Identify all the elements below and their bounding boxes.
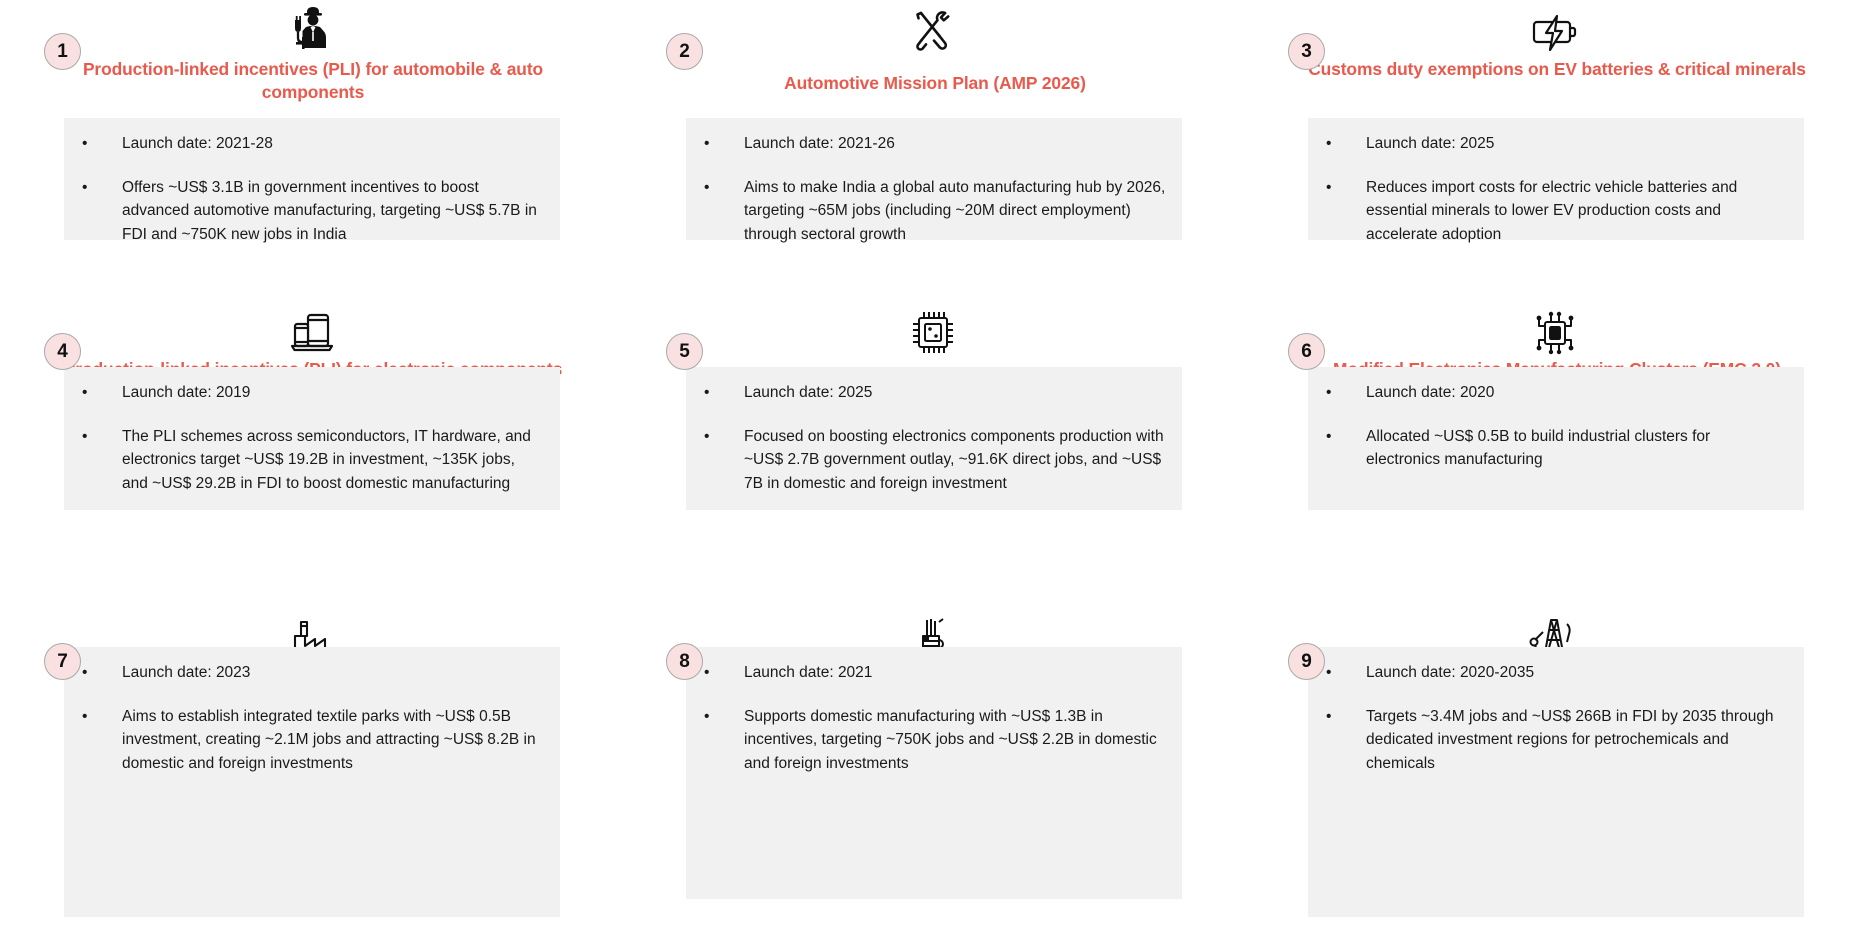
bullet-text: Launch date: 2023 [122, 661, 544, 685]
card-title: Automotive Mission Plan (AMP 2026) [680, 72, 1190, 95]
bullet-glyph: • [1318, 425, 1366, 449]
bullet-glyph: • [1318, 381, 1366, 405]
bullet-text: Launch date: 2020-2035 [1366, 661, 1788, 685]
bullet-item: • Targets ~3.4M jobs and ~US$ 266B in FD… [1318, 705, 1788, 776]
bullet-text: Targets ~3.4M jobs and ~US$ 266B in FDI … [1366, 705, 1788, 776]
card-number-badge: 3 [1288, 33, 1325, 70]
crossed-tools-icon [622, 2, 1244, 60]
bullet-text: Launch date: 2021-26 [744, 132, 1166, 156]
bullet-item: • Reduces import costs for electric vehi… [1318, 176, 1788, 247]
bullet-text: Launch date: 2025 [744, 381, 1166, 405]
bullet-item: • Supports domestic manufacturing with ~… [696, 705, 1166, 776]
bullet-text: Reduces import costs for electric vehicl… [1366, 176, 1788, 247]
bullet-text: Launch date: 2021 [744, 661, 1166, 685]
bullet-text: Offers ~US$ 3.1B in government incentive… [122, 176, 544, 247]
bullet-item: • Launch date: 2023 [74, 661, 544, 685]
battery-charging-icon [1244, 2, 1866, 60]
bullet-glyph: • [1318, 661, 1366, 685]
bullet-glyph: • [696, 176, 744, 200]
bullet-item: • The PLI schemes across semiconductors,… [74, 425, 544, 496]
bullet-text: Focused on boosting electronics componen… [744, 425, 1166, 496]
card-title: Customs duty exemptions on EV batteries … [1302, 58, 1812, 81]
card-content-box: • Launch date: 2019 • The PLI schemes ac… [64, 367, 560, 510]
bullet-text: Launch date: 2021-28 [122, 132, 544, 156]
card-content-box: • Launch date: 2023 • Aims to establish … [64, 647, 560, 917]
card-content-box: • Launch date: 2025 • Focused on boostin… [686, 367, 1182, 510]
bullet-glyph: • [696, 661, 744, 685]
scheme-card-2[interactable]: 2 Automotive Mission Pl [622, 0, 1244, 300]
bullet-glyph: • [1318, 132, 1366, 156]
scheme-card-1[interactable]: 1 [0, 0, 622, 300]
card-number-badge: 2 [666, 33, 703, 70]
bullet-glyph: • [74, 381, 122, 405]
card-content-box: • Launch date: 2020-2035 • Targets ~3.4M… [1308, 647, 1804, 917]
bullet-text: Launch date: 2019 [122, 381, 544, 405]
scheme-card-5[interactable]: 5 [622, 300, 1244, 610]
card-number-badge: 1 [44, 33, 81, 70]
bullet-glyph: • [696, 705, 744, 729]
bullet-glyph: • [1318, 176, 1366, 200]
scheme-card-6[interactable]: 6 [1244, 300, 1866, 610]
bullet-text: Aims to make India a global auto manufac… [744, 176, 1166, 247]
bullet-item: • Launch date: 2020 [1318, 381, 1788, 405]
bullet-glyph: • [74, 705, 122, 729]
bullet-item: • Focused on boosting electronics compon… [696, 425, 1166, 496]
bullet-glyph: • [74, 661, 122, 685]
bullet-item: • Aims to make India a global auto manuf… [696, 176, 1166, 247]
card-content-box: • Launch date: 2025 • Reduces import cos… [1308, 118, 1804, 240]
card-number-badge: 6 [1288, 333, 1325, 370]
card-content-box: • Launch date: 2021-28 • Offers ~US$ 3.1… [64, 118, 560, 240]
card-content-box: • Launch date: 2020 • Allocated ~US$ 0.5… [1308, 367, 1804, 510]
bullet-glyph: • [696, 132, 744, 156]
card-content-box: • Launch date: 2021-26 • Aims to make In… [686, 118, 1182, 240]
scheme-card-3[interactable]: 3 Customs duty exemptions on EV batterie… [1244, 0, 1866, 300]
bullet-text: The PLI schemes across semiconductors, I… [122, 425, 544, 496]
bullet-text: Aims to establish integrated textile par… [122, 705, 544, 776]
card-number-badge: 4 [44, 333, 81, 370]
schemes-grid: 1 [0, 0, 1866, 926]
card-number-badge: 5 [666, 333, 703, 370]
scheme-card-8[interactable]: 8 [622, 610, 1244, 926]
circuit-cluster-icon [1244, 302, 1866, 360]
bullet-item: • Launch date: 2019 [74, 381, 544, 405]
bullet-item: • Launch date: 2025 [1318, 132, 1788, 156]
card-content-box: • Launch date: 2021 • Supports domestic … [686, 647, 1182, 899]
bullet-item: • Launch date: 2021 [696, 661, 1166, 685]
scheme-card-4[interactable]: 4 Producti [0, 300, 622, 610]
bullet-glyph: • [74, 425, 122, 449]
bullet-glyph: • [74, 176, 122, 200]
bullet-item: • Launch date: 2021-28 [74, 132, 544, 156]
scheme-card-9[interactable]: 9 [1244, 610, 1866, 926]
bullet-glyph: • [696, 425, 744, 449]
bullet-item: • Aims to establish integrated textile p… [74, 705, 544, 776]
bullet-glyph: • [696, 381, 744, 405]
bullet-glyph: • [1318, 705, 1366, 729]
bullet-text: Launch date: 2025 [1366, 132, 1788, 156]
grid-row-1: 1 [0, 0, 1866, 300]
card-number-badge: 9 [1288, 643, 1325, 680]
devices-phone-tablet-icon [0, 302, 622, 360]
bullet-text: Supports domestic manufacturing with ~US… [744, 705, 1166, 776]
grid-row-2: 4 Producti [0, 300, 1866, 610]
card-number-badge: 8 [666, 643, 703, 680]
worker-with-plug-icon [0, 2, 622, 60]
card-title: Production-linked incentives (PLI) for a… [58, 58, 568, 104]
scheme-card-7[interactable]: 7 PM MITRA (Pradhan Mantri Mega Inte [0, 610, 622, 926]
bullet-text: Allocated ~US$ 0.5B to build industrial … [1366, 425, 1788, 472]
bullet-item: • Offers ~US$ 3.1B in government incenti… [74, 176, 544, 247]
bullet-item: • Launch date: 2025 [696, 381, 1166, 405]
bullet-glyph: • [74, 132, 122, 156]
card-number-badge: 7 [44, 643, 81, 680]
bullet-item: • Launch date: 2021-26 [696, 132, 1166, 156]
grid-row-3: 7 PM MITRA (Pradhan Mantri Mega Inte [0, 610, 1866, 926]
microchip-icon [622, 302, 1244, 360]
bullet-item: • Allocated ~US$ 0.5B to build industria… [1318, 425, 1788, 472]
bullet-text: Launch date: 2020 [1366, 381, 1788, 405]
bullet-item: • Launch date: 2020-2035 [1318, 661, 1788, 685]
